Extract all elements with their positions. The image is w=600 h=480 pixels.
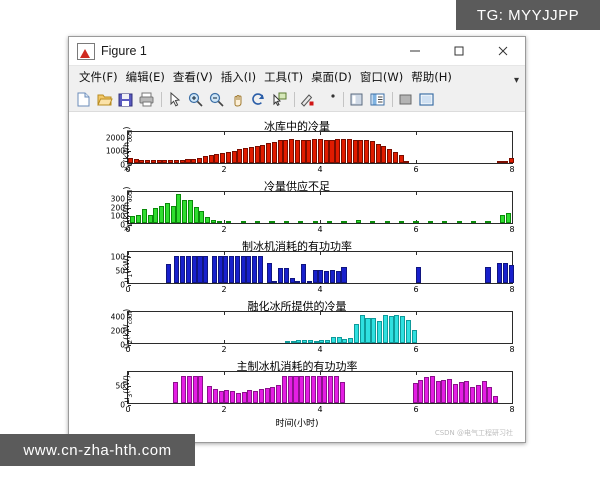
bar [246, 256, 251, 283]
x-tick-label: 2 [221, 225, 226, 234]
bar [406, 320, 411, 343]
bar [199, 211, 204, 223]
matlab-figure-icon [77, 43, 95, 60]
bar [145, 160, 150, 163]
bar [276, 385, 281, 403]
bar [313, 270, 318, 283]
bar [209, 155, 214, 163]
x-tick-mark [512, 220, 513, 223]
bar [243, 148, 248, 163]
bar [329, 140, 334, 163]
insert-legend-icon[interactable] [368, 90, 387, 109]
subplot-ice-melting-cooling-supply: 融化冰所提供的冷量u2(kWcool)020040002468 [69, 298, 525, 355]
x-tick-label: 0 [125, 405, 130, 414]
menu-window[interactable]: 窗口(W) [356, 69, 407, 85]
bar [253, 391, 258, 403]
bar [341, 267, 346, 283]
toolbar-separator [158, 90, 165, 109]
bar-series [128, 132, 512, 163]
bar [235, 256, 240, 283]
bar [324, 271, 329, 283]
bar [197, 158, 202, 164]
y-tick-label: 2000 [106, 133, 125, 142]
bar [313, 221, 318, 223]
bar [186, 256, 191, 283]
bar [241, 256, 246, 283]
x-tick-label: 4 [317, 405, 322, 414]
bar [136, 215, 141, 223]
menu-edit[interactable]: 编辑(E) [122, 69, 169, 85]
bar [265, 388, 270, 403]
bar [236, 393, 241, 404]
bar [207, 386, 212, 403]
bar [354, 324, 359, 343]
bar [497, 161, 502, 163]
bar [270, 387, 275, 404]
print-figure-icon[interactable] [137, 90, 156, 109]
bar-series [128, 252, 512, 283]
bar [223, 256, 228, 283]
bar [381, 146, 386, 163]
bar-series [128, 312, 512, 343]
bar [182, 200, 187, 223]
bar [428, 221, 433, 223]
bar [295, 281, 300, 283]
bar [319, 340, 324, 343]
x-tick-label: 2 [221, 285, 226, 294]
bar [224, 390, 229, 403]
bar [371, 318, 376, 343]
bar [322, 376, 327, 403]
bar [331, 337, 336, 343]
bar [159, 206, 164, 223]
y-tick-label: 100 [111, 212, 125, 221]
bar [193, 376, 198, 403]
bar [442, 221, 447, 223]
bar [249, 147, 254, 163]
bar [139, 160, 144, 163]
bar [509, 158, 514, 163]
minimize-button[interactable] [393, 37, 437, 65]
x-tick-mark-top [512, 372, 513, 375]
bar [188, 200, 193, 223]
bar [142, 209, 147, 223]
bar [334, 376, 339, 403]
bar [509, 265, 514, 283]
bar [336, 271, 341, 283]
bar [377, 321, 382, 343]
bar [328, 376, 333, 403]
bar [482, 381, 487, 403]
save-figure-icon[interactable] [116, 90, 135, 109]
bar [311, 376, 316, 403]
bar [284, 268, 289, 283]
y-tick-label: 300 [111, 194, 125, 203]
url-watermark-badge: www.cn-zha-hth.com [0, 434, 195, 466]
plot-tools-icon[interactable] [396, 90, 415, 109]
bar [389, 316, 394, 343]
csdn-watermark: CSDN @电气工程研习社 [435, 428, 513, 438]
bar [330, 270, 335, 283]
bar [213, 389, 218, 403]
bar [318, 270, 323, 283]
bar [187, 376, 192, 403]
bar [413, 221, 418, 223]
bar [506, 213, 511, 223]
tg-watermark-badge: TG: MYYJJPP [456, 0, 600, 30]
bar [185, 159, 190, 163]
subplot-main-ice-maker-active-power: 主制冰机消耗的有功功率u3(kW)05002468 [69, 358, 525, 415]
y-tick-label: 200 [111, 326, 125, 335]
bar [237, 149, 242, 163]
bar [269, 221, 274, 223]
bar [174, 160, 179, 163]
bar [232, 151, 237, 163]
bar [242, 392, 247, 403]
bar [205, 217, 210, 223]
bar [198, 376, 203, 403]
bar [337, 337, 342, 343]
bar [290, 278, 295, 283]
x-tick-mark-top [512, 132, 513, 135]
bar [272, 281, 277, 283]
bar [295, 140, 300, 164]
bar [259, 389, 264, 403]
new-figure-icon[interactable] [74, 90, 93, 109]
subplot-cooling-supply-shortage: 冷量供应不足x2(kWhcool)010020030002468 [69, 178, 525, 235]
x-tick-label: 2 [221, 405, 226, 414]
bar [260, 145, 265, 163]
brush-data-icon[interactable] [298, 90, 317, 109]
bar [176, 194, 181, 223]
bar [301, 140, 306, 163]
bar [211, 220, 216, 223]
bar [457, 221, 462, 223]
bar [358, 140, 363, 163]
bar [291, 341, 296, 343]
bar [500, 215, 505, 223]
bar-series [128, 372, 512, 403]
x-tick-mark-top [512, 312, 513, 315]
bar [476, 385, 481, 403]
close-button[interactable] [481, 37, 525, 65]
menu-insert[interactable]: 插入(I) [217, 69, 260, 85]
bar [503, 161, 508, 163]
bar [365, 318, 370, 343]
bar [416, 267, 421, 283]
y-tick-label: 200 [111, 203, 125, 212]
x-tick-label: 6 [413, 225, 418, 234]
y-tick-label: 1000 [106, 147, 125, 156]
bar [404, 161, 409, 163]
x-tick-label: 4 [317, 285, 322, 294]
bar [387, 149, 392, 163]
maximize-button[interactable] [437, 37, 481, 65]
x-tick-label: 6 [413, 285, 418, 294]
bar [247, 390, 252, 403]
bar [298, 221, 303, 223]
bar [296, 340, 301, 343]
bar [447, 379, 452, 403]
bar [267, 263, 272, 283]
bar [307, 281, 312, 283]
bar [241, 221, 246, 223]
y-tick-label: 100 [111, 253, 125, 262]
bar [255, 146, 260, 163]
subplot-ice-storage-cooling-energy: 冰库中的冷量x1(kWhcool)01000200002468 [69, 118, 525, 175]
bar [306, 140, 311, 163]
bar [194, 207, 199, 224]
bar [399, 155, 404, 163]
bar [356, 220, 361, 223]
bar [364, 140, 369, 163]
y-tick-label: 400 [111, 312, 125, 321]
bar [314, 341, 319, 343]
bar [153, 208, 158, 223]
show-plot-tools-icon[interactable] [417, 90, 436, 109]
x-tick-label: 4 [317, 225, 322, 234]
bar [168, 160, 173, 163]
bar [459, 382, 464, 403]
bar [278, 268, 283, 283]
bar-series [128, 192, 512, 223]
bar [180, 160, 185, 163]
bar [166, 264, 171, 283]
menu-help[interactable]: 帮助(H) [407, 69, 456, 85]
bar [335, 139, 340, 163]
toolbar-separator [291, 90, 298, 109]
bar [197, 256, 202, 283]
subplot-ice-maker-active-power: 制冰机消耗的有功功率u1(kW)05010002468 [69, 238, 525, 295]
data-cursor-icon[interactable] [270, 90, 289, 109]
menu-tools[interactable]: 工具(T) [260, 69, 307, 85]
bar [413, 383, 418, 403]
bar [174, 256, 179, 283]
x-tick-label: 2 [221, 165, 226, 174]
axes-box: u2(kWcool)020040002468 [127, 311, 513, 344]
bar [283, 140, 288, 163]
bar [229, 256, 234, 283]
x-tick-mark [512, 400, 513, 403]
bar [342, 339, 347, 343]
bar [453, 384, 458, 403]
bar [266, 143, 271, 163]
bar [318, 139, 323, 163]
zoom-in-icon[interactable] [186, 90, 205, 109]
bar [289, 139, 294, 163]
toolbar-separator [389, 90, 396, 109]
bar [226, 221, 231, 223]
bar [370, 141, 375, 163]
bar [353, 140, 358, 164]
bar [217, 221, 222, 223]
bar [214, 154, 219, 163]
bar [288, 376, 293, 403]
bar [430, 376, 435, 403]
toolbar-separator [340, 90, 347, 109]
x-tick-label: 6 [413, 405, 418, 414]
bar [171, 206, 176, 223]
window-title: Figure 1 [101, 44, 393, 58]
menu-file[interactable]: 文件(F) [75, 69, 122, 85]
bar [441, 380, 446, 403]
x-tick-label: 6 [413, 345, 418, 354]
bar [400, 316, 405, 343]
bar [436, 381, 441, 404]
bar [418, 380, 423, 403]
axes-box: x2(kWhcool)010020030002468 [127, 191, 513, 224]
bar [470, 387, 475, 403]
bar [272, 142, 277, 163]
bar [393, 152, 398, 163]
pointer-icon[interactable] [165, 90, 184, 109]
open-file-icon[interactable] [95, 90, 114, 109]
pan-icon[interactable] [228, 90, 247, 109]
bar [203, 256, 208, 283]
bar [424, 377, 429, 403]
bar [278, 140, 283, 163]
axes-box: u3(kW)05002468 [127, 371, 513, 404]
x-tick-label: 8 [509, 285, 514, 294]
link-plot-icon[interactable] [319, 90, 338, 109]
bar [471, 221, 476, 223]
bar [308, 340, 313, 343]
y-tick-label: 50 [115, 267, 125, 276]
zoom-out-icon[interactable] [207, 90, 226, 109]
bar [258, 256, 263, 283]
bar [464, 381, 469, 404]
bar [134, 159, 139, 163]
x-tick-label: 4 [317, 345, 322, 354]
bar [305, 376, 310, 403]
bar [503, 263, 508, 283]
bar [162, 160, 167, 163]
bar [302, 340, 307, 343]
bar [370, 221, 375, 223]
x-tick-mark-top [512, 192, 513, 195]
x-tick-label: 8 [509, 345, 514, 354]
bar [385, 221, 390, 223]
x-tick-mark-top [512, 252, 513, 255]
bar [493, 396, 498, 403]
bar [282, 376, 287, 403]
bar [212, 256, 217, 283]
rotate-3d-icon[interactable] [249, 90, 268, 109]
figure-toolbar [69, 87, 525, 112]
bar [341, 139, 346, 163]
bar [394, 315, 399, 343]
menu-bar: 文件(F) 编辑(E) 查看(V) 插入(I) 工具(T) 桌面(D) 窗口(W… [69, 66, 525, 87]
bar [383, 315, 388, 343]
bar [219, 391, 224, 403]
bar [173, 382, 178, 403]
bar [220, 153, 225, 163]
x-tick-label: 6 [413, 165, 418, 174]
bar [485, 221, 490, 223]
x-tick-label: 8 [509, 405, 514, 414]
bar [376, 144, 381, 163]
menu-desktop[interactable]: 桌面(D) [307, 69, 356, 85]
bar [412, 330, 417, 343]
figure-window: Figure 1 文件(F) 编辑(E) 查看(V) 插入(I) 工具(T) 桌… [68, 36, 526, 443]
bar [299, 376, 304, 403]
bar [485, 267, 490, 283]
bar [252, 256, 257, 283]
bar [340, 382, 345, 403]
x-tick-label: 8 [509, 225, 514, 234]
bar [191, 159, 196, 163]
bar [218, 256, 223, 283]
bar [165, 203, 170, 223]
menu-view[interactable]: 查看(V) [169, 69, 217, 85]
bar [293, 376, 298, 403]
bar [324, 140, 329, 164]
bar [180, 256, 185, 283]
bar [230, 391, 235, 403]
bar [399, 221, 404, 223]
bar [226, 152, 231, 163]
bar [341, 221, 346, 223]
bar [151, 160, 156, 163]
menu-overflow-icon[interactable]: ▾ [514, 75, 519, 86]
bar [284, 221, 289, 223]
x-tick-label: 4 [317, 165, 322, 174]
figure-plot-canvas: 时间(小时) CSDN @电气工程研习社 冰库中的冷量x1(kWhcool)01… [69, 112, 525, 442]
bar [347, 139, 352, 163]
bar [325, 340, 330, 344]
y-tick-label: 0 [120, 401, 125, 410]
window-title-bar: Figure 1 [69, 37, 525, 66]
insert-colorbar-icon[interactable] [347, 90, 366, 109]
bar [157, 160, 162, 163]
bar [285, 341, 290, 343]
bar [192, 256, 197, 283]
bar [203, 156, 208, 163]
bar [148, 215, 153, 223]
y-tick-label: 50 [115, 382, 125, 391]
bar [348, 338, 353, 343]
bar [312, 139, 317, 163]
bar [181, 376, 186, 403]
x-tick-label: 8 [509, 165, 514, 174]
bar [317, 376, 322, 403]
bar [301, 264, 306, 283]
axes-box: x1(kWhcool)01000200002468 [127, 131, 513, 164]
bar [360, 315, 365, 343]
bar [497, 263, 502, 283]
axes-box: u1(kW)05010002468 [127, 251, 513, 284]
x-tick-mark [512, 340, 513, 343]
bar [327, 221, 332, 223]
x-tick-label: 2 [221, 345, 226, 354]
bar [487, 387, 492, 403]
bar [255, 221, 260, 223]
